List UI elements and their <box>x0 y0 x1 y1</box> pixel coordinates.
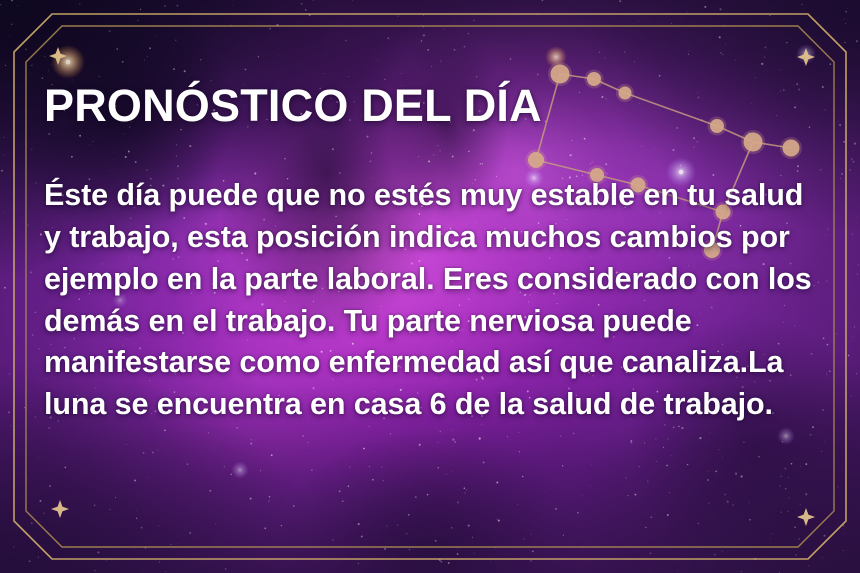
sparkle-icon-bottom-left <box>51 500 69 518</box>
forecast-body-text: Éste día puede que no estés muy estable … <box>44 129 816 426</box>
sparkle-icon-top-left <box>49 47 67 65</box>
sparkle-icon-bottom-right <box>797 508 815 526</box>
horoscope-poster: PRONÓSTICO DEL DÍA Éste día puede que no… <box>0 0 860 573</box>
page-title: PRONÓSTICO DEL DÍA <box>44 82 816 129</box>
sparkle-icon-top-right <box>797 48 815 66</box>
poster-text-block: PRONÓSTICO DEL DÍA Éste día puede que no… <box>44 82 816 426</box>
